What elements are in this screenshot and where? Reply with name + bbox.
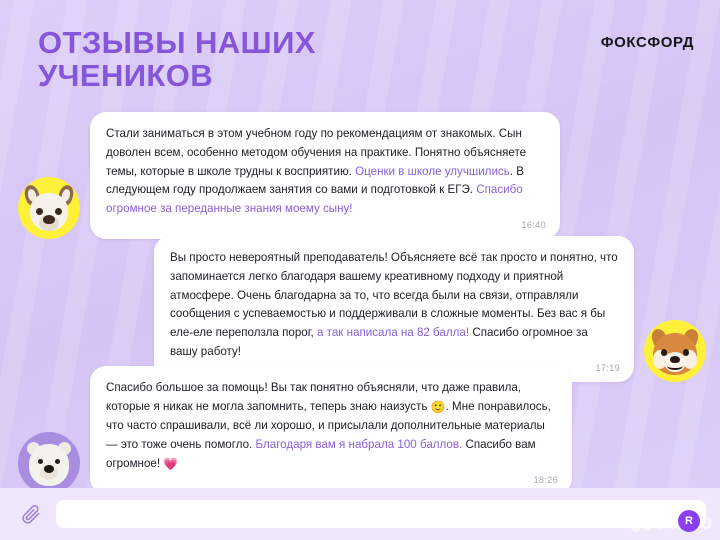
shiba-inu-avatar bbox=[644, 320, 706, 382]
review-slide: ОТЗЫВЫ НАШИХ УЧЕНИКОВ ФОКСФОРД Стали зан… bbox=[0, 0, 720, 540]
message-text: Спасибо большое за помощь! Вы так понятн… bbox=[106, 379, 556, 474]
message-composer bbox=[0, 488, 720, 540]
french-bulldog-avatar bbox=[18, 177, 80, 239]
message-text: Вы просто невероятный преподаватель! Объ… bbox=[170, 249, 618, 362]
message-bubble: Вы просто невероятный преподаватель! Объ… bbox=[154, 236, 634, 382]
avito-watermark-badge: R bbox=[678, 510, 700, 532]
highlighted-text: Оценки в школе улучшились bbox=[355, 165, 510, 178]
message-time: 18:26 bbox=[534, 473, 559, 488]
polar-bear-avatar bbox=[18, 432, 80, 494]
message-bubble: Спасибо большое за помощь! Вы так понятн… bbox=[90, 366, 572, 494]
chat-thread: Стали заниматься в этом учебном году по … bbox=[0, 108, 720, 488]
message-input[interactable] bbox=[56, 500, 706, 528]
message-row: Спасибо большое за помощь! Вы так понятн… bbox=[18, 366, 572, 494]
message-text: Стали заниматься в этом учебном году по … bbox=[106, 125, 544, 219]
emoji-glyph: 🙂 bbox=[431, 400, 446, 414]
slide-header: ОТЗЫВЫ НАШИХ УЧЕНИКОВ ФОКСФОРД bbox=[0, 0, 720, 110]
highlighted-text: а так написала на 82 балла! bbox=[317, 326, 469, 339]
message-bubble: Стали заниматься в этом учебном году по … bbox=[90, 112, 560, 239]
message-row: Вы просто невероятный преподаватель! Объ… bbox=[154, 236, 706, 382]
highlighted-text: Благодаря вам я набрала 100 баллов. bbox=[256, 438, 463, 451]
paperclip-icon[interactable] bbox=[18, 501, 44, 527]
message-time: 16:40 bbox=[522, 218, 547, 233]
page-title: ОТЗЫВЫ НАШИХ УЧЕНИКОВ bbox=[38, 26, 468, 93]
brand-logo: ФОКСФОРД bbox=[601, 34, 694, 51]
message-row: Стали заниматься в этом учебном году по … bbox=[18, 112, 560, 239]
emoji-glyph: 💗 bbox=[163, 457, 178, 471]
message-time: 17:19 bbox=[596, 361, 621, 376]
